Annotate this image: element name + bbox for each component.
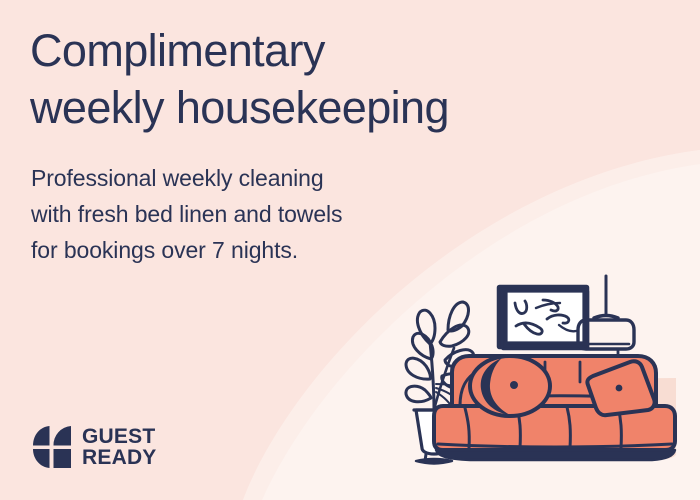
brand-wordmark: GUEST READY bbox=[82, 426, 157, 469]
guestready-quadrant-logo-icon bbox=[31, 424, 73, 470]
promo-description: Professional weekly cleaning with fresh … bbox=[31, 160, 461, 268]
brand-logo: GUEST READY bbox=[31, 424, 157, 470]
brand-line-1: GUEST bbox=[82, 426, 157, 448]
brand-line-2: READY bbox=[82, 447, 157, 469]
promo-banner: Complimentary weekly housekeeping Profes… bbox=[0, 0, 700, 500]
page-title: Complimentary weekly housekeeping bbox=[30, 22, 630, 136]
sofa-icon bbox=[434, 356, 676, 460]
living-room-illustration bbox=[390, 258, 700, 500]
framed-picture-icon bbox=[498, 286, 588, 349]
round-cushion-icon bbox=[470, 356, 550, 416]
